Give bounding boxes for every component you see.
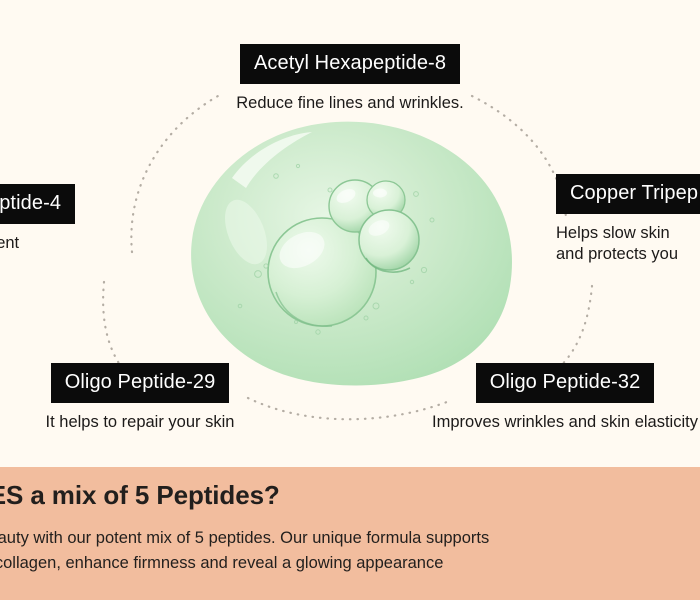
banner-heading: T DOES a mix of 5 Peptides? (0, 481, 700, 511)
banner-paragraph-line-1: neless beauty with our potent mix of 5 p… (0, 526, 700, 552)
callout-description-copper-tripeptide: Helps slow skin and protects you (556, 223, 700, 264)
callout-title-oligo-peptide-32: Oligo Peptide-32 (476, 363, 655, 403)
gel-bubble-small-highlight (373, 189, 387, 198)
callout-pentapeptide-4[interactable]: Pentapeptide-4 e improvement (0, 184, 250, 254)
callout-title-copper-tripeptide: Copper Tripep (556, 174, 700, 214)
callout-description-oligo-peptide-29: It helps to repair your skin (0, 412, 300, 433)
callout-title-pentapeptide-4: Pentapeptide-4 (0, 184, 75, 224)
diagram-area: Acetyl Hexapeptide-8 Reduce fine lines a… (0, 0, 700, 467)
callout-copper-tripeptide[interactable]: Copper Tripep Helps slow skin and protec… (556, 174, 700, 264)
callout-title-acetyl-hexapeptide-8: Acetyl Hexapeptide-8 (240, 44, 460, 84)
arc-right-bottom (552, 286, 592, 374)
banner-content: T DOES a mix of 5 Peptides? neless beaut… (0, 481, 700, 577)
banner-paragraph-line-2: s natural collagen, enhance firmness and… (0, 551, 700, 577)
bottom-banner: T DOES a mix of 5 Peptides? neless beaut… (0, 467, 700, 600)
callout-title-oligo-peptide-29: Oligo Peptide-29 (51, 363, 230, 403)
peptide-infographic: Acetyl Hexapeptide-8 Reduce fine lines a… (0, 0, 700, 600)
callout-acetyl-hexapeptide-8[interactable]: Acetyl Hexapeptide-8 Reduce fine lines a… (110, 44, 590, 114)
callout-description-acetyl-hexapeptide-8: Reduce fine lines and wrinkles. (110, 93, 590, 114)
callout-oligo-peptide-32[interactable]: Oligo Peptide-32 Improves wrinkles and s… (405, 363, 700, 433)
banner-paragraph: neless beauty with our potent mix of 5 p… (0, 526, 700, 577)
callout-description-oligo-peptide-32: Improves wrinkles and skin elasticity (405, 412, 700, 433)
callout-description-pentapeptide-4: e improvement (0, 233, 250, 254)
callout-oligo-peptide-29[interactable]: Oligo Peptide-29 It helps to repair your… (0, 363, 300, 433)
